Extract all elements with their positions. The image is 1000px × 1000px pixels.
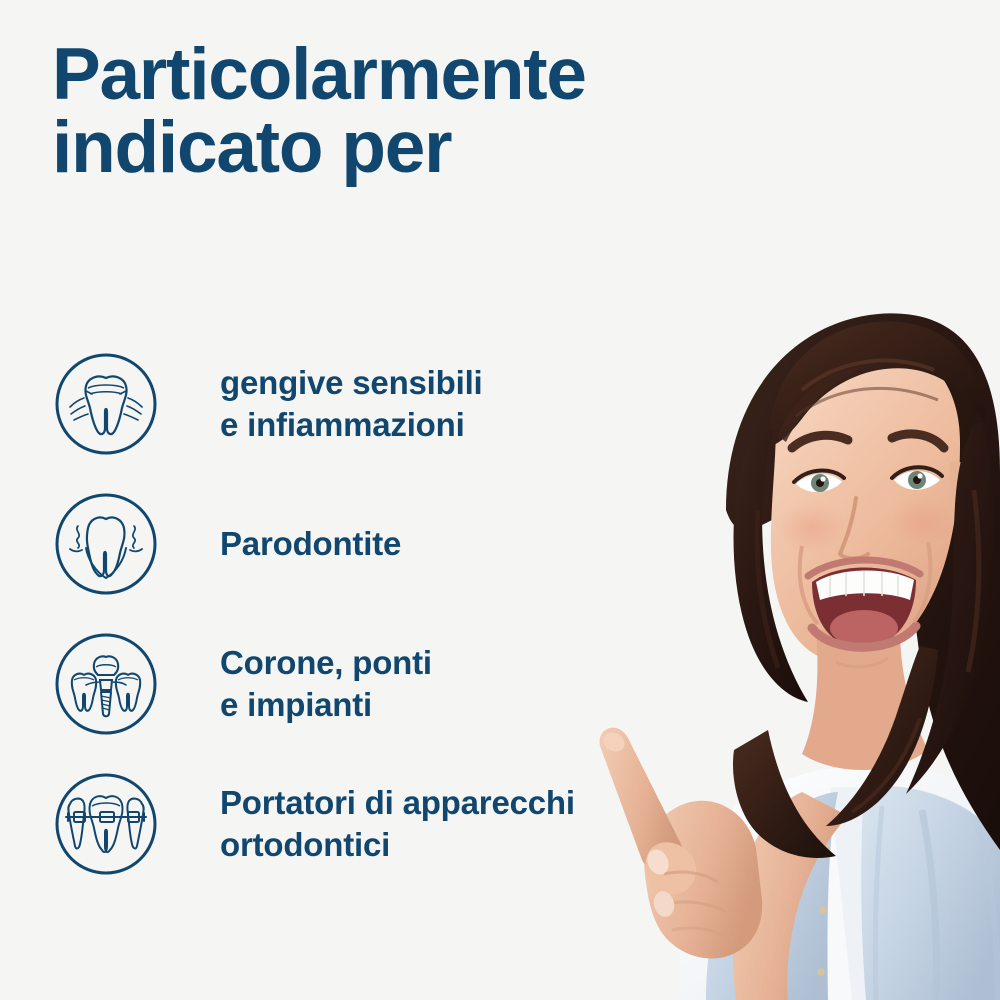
tooth-periodontitis-icon — [52, 490, 160, 598]
tooth-sensitivity-icon — [52, 350, 160, 458]
benefits-list: gengive sensibili e infiammazioni Parodo… — [52, 350, 712, 910]
list-item: Corone, ponti e impianti — [52, 630, 712, 770]
page-title: Particolarmente indicato per — [52, 38, 842, 184]
teeth-braces-icon — [52, 770, 160, 878]
list-item-label: Corone, ponti e impianti — [220, 630, 720, 738]
dental-implant-crown-icon — [52, 630, 160, 738]
infographic-canvas: Particolarmente indicato per — [0, 0, 1000, 1000]
list-item: Portatori di apparecchi ortodontici — [52, 770, 712, 910]
list-item-label: Parodontite — [220, 490, 720, 598]
list-item-label: Portatori di apparecchi ortodontici — [220, 770, 720, 878]
list-item: gengive sensibili e infiammazioni — [52, 350, 712, 490]
list-item: Parodontite — [52, 490, 712, 630]
list-item-label: gengive sensibili e infiammazioni — [220, 350, 720, 458]
